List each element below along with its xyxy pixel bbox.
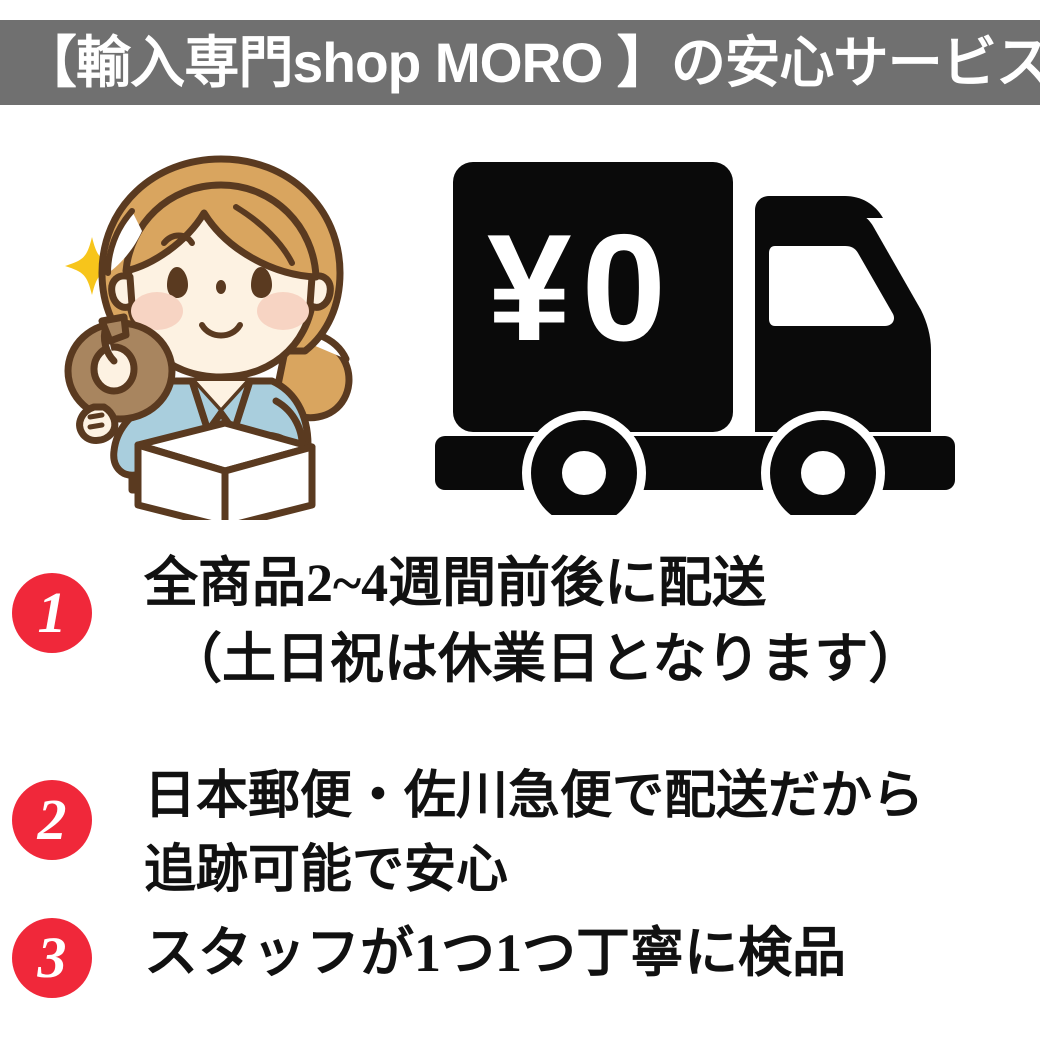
delivery-truck-icon: ¥0: [425, 140, 1005, 515]
illustration-row: ¥0: [0, 110, 1040, 525]
badge-number-2: 2: [38, 791, 67, 849]
badge-circle-3: 3: [12, 918, 92, 998]
badge-number-3: 3: [38, 929, 67, 987]
feature-badge-2: 2: [0, 780, 92, 876]
page-title: 【輸入専門shop MORO 】の安心サービス: [0, 20, 1040, 105]
feature-text-1: 全商品2~4週間前後に配送 （土日祝は休業日となります）: [92, 545, 1040, 697]
feature-badge-1: 1: [0, 573, 92, 669]
feature-line-2-1: 日本郵便・佐川急便で配送だから: [144, 760, 1040, 834]
feature-item-3: 3 スタッフが1つ1つ丁寧に検品: [0, 910, 1040, 1014]
badge-circle-2: 2: [12, 780, 92, 860]
feature-item-1: 1 全商品2~4週間前後に配送 （土日祝は休業日となります）: [0, 545, 1040, 697]
feature-line-1-2: （土日祝は休業日となります）: [144, 621, 1040, 697]
header-banner: 【輸入専門shop MORO 】の安心サービス: [0, 20, 1040, 105]
promo-banner-page: 【輸入専門shop MORO 】の安心サービス: [0, 0, 1040, 1040]
feature-line-3-1: スタッフが1つ1つ丁寧に検品: [144, 910, 1040, 996]
badge-circle-1: 1: [12, 573, 92, 653]
feature-badge-3: 3: [0, 918, 92, 1014]
feature-text-2: 日本郵便・佐川急便で配送だから 追跡可能で安心: [92, 760, 1040, 908]
feature-item-2: 2 日本郵便・佐川急便で配送だから 追跡可能で安心: [0, 760, 1040, 908]
free-shipping-price-label: ¥0: [487, 203, 676, 373]
feature-text-3: スタッフが1つ1つ丁寧に検品: [92, 910, 1040, 996]
feature-line-2-2: 追跡可能で安心: [144, 834, 1040, 908]
feature-line-1-1: 全商品2~4週間前後に配送: [144, 545, 1040, 621]
badge-number-1: 1: [38, 584, 67, 642]
woman-packing-box-illustration: [40, 145, 400, 520]
